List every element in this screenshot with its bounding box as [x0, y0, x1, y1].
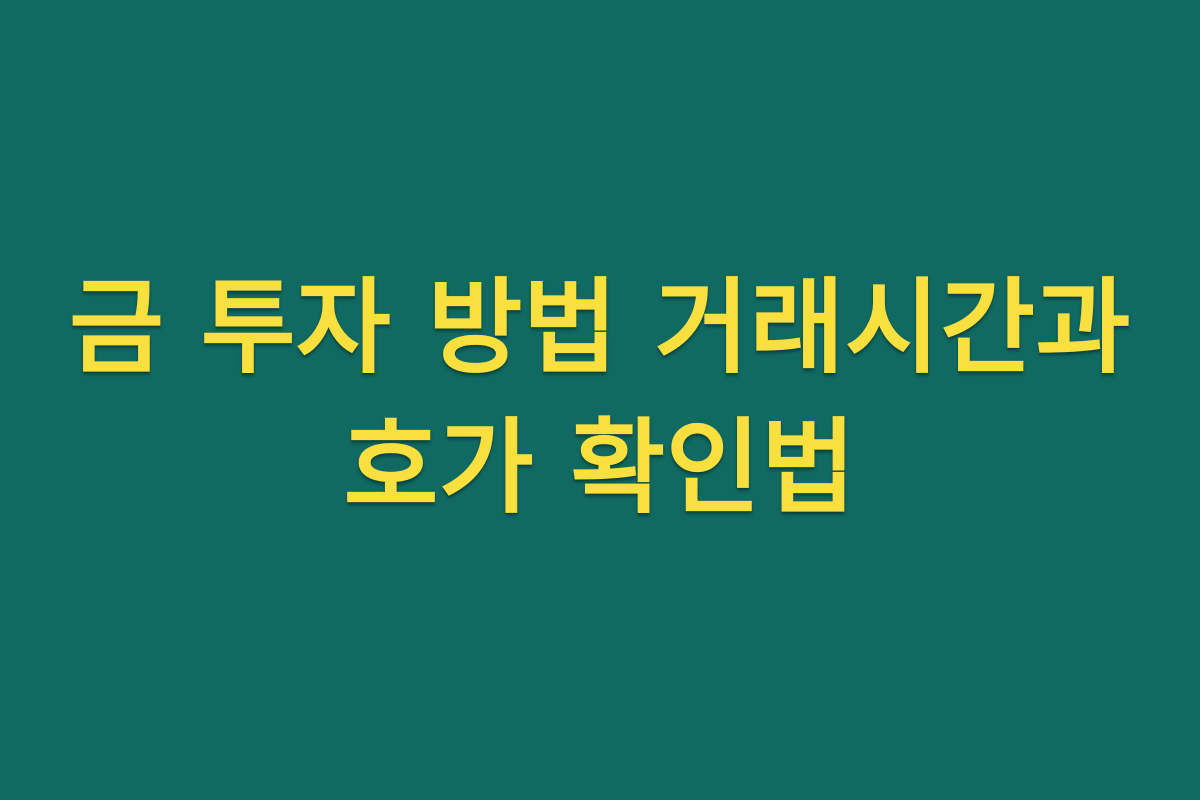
title-line-1: 금 투자 방법 거래시간과 — [40, 258, 1160, 398]
thumbnail-canvas: 금 투자 방법 거래시간과 호가 확인법 — [0, 0, 1200, 800]
page-title: 금 투자 방법 거래시간과 호가 확인법 — [40, 258, 1160, 538]
title-line-2: 호가 확인법 — [40, 398, 1160, 538]
